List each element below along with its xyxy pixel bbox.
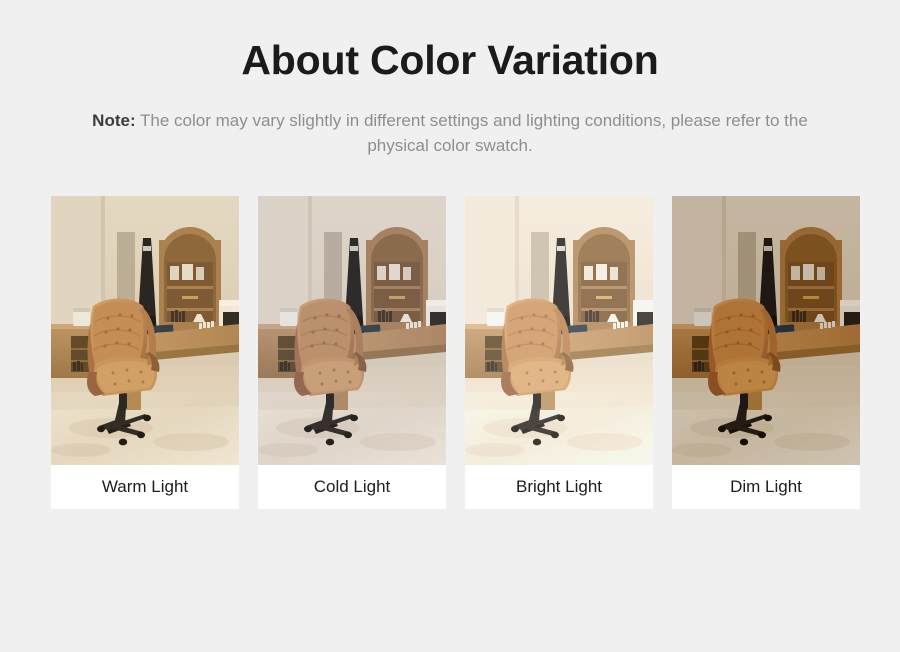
room-scene-image — [465, 196, 653, 465]
note-body: The color may vary slightly in different… — [136, 111, 808, 155]
color-variation-card-list: Warm Light — [51, 196, 860, 509]
color-variation-card[interactable]: Dim Light — [672, 196, 860, 509]
card-caption: Dim Light — [672, 465, 860, 509]
color-variation-page: About Color Variation Note: The color ma… — [0, 0, 900, 652]
note-paragraph: Note: The color may vary slightly in dif… — [90, 83, 810, 158]
color-variation-card[interactable]: Warm Light — [51, 196, 239, 509]
room-scene-image — [258, 196, 446, 465]
room-scene-image — [51, 196, 239, 465]
card-caption: Cold Light — [258, 465, 446, 509]
card-caption: Bright Light — [465, 465, 653, 509]
page-title: About Color Variation — [0, 0, 900, 83]
card-caption: Warm Light — [51, 465, 239, 509]
color-variation-card[interactable]: Bright Light — [465, 196, 653, 509]
room-scene-image — [672, 196, 860, 465]
color-variation-card[interactable]: Cold Light — [258, 196, 446, 509]
note-label: Note: — [92, 111, 135, 130]
